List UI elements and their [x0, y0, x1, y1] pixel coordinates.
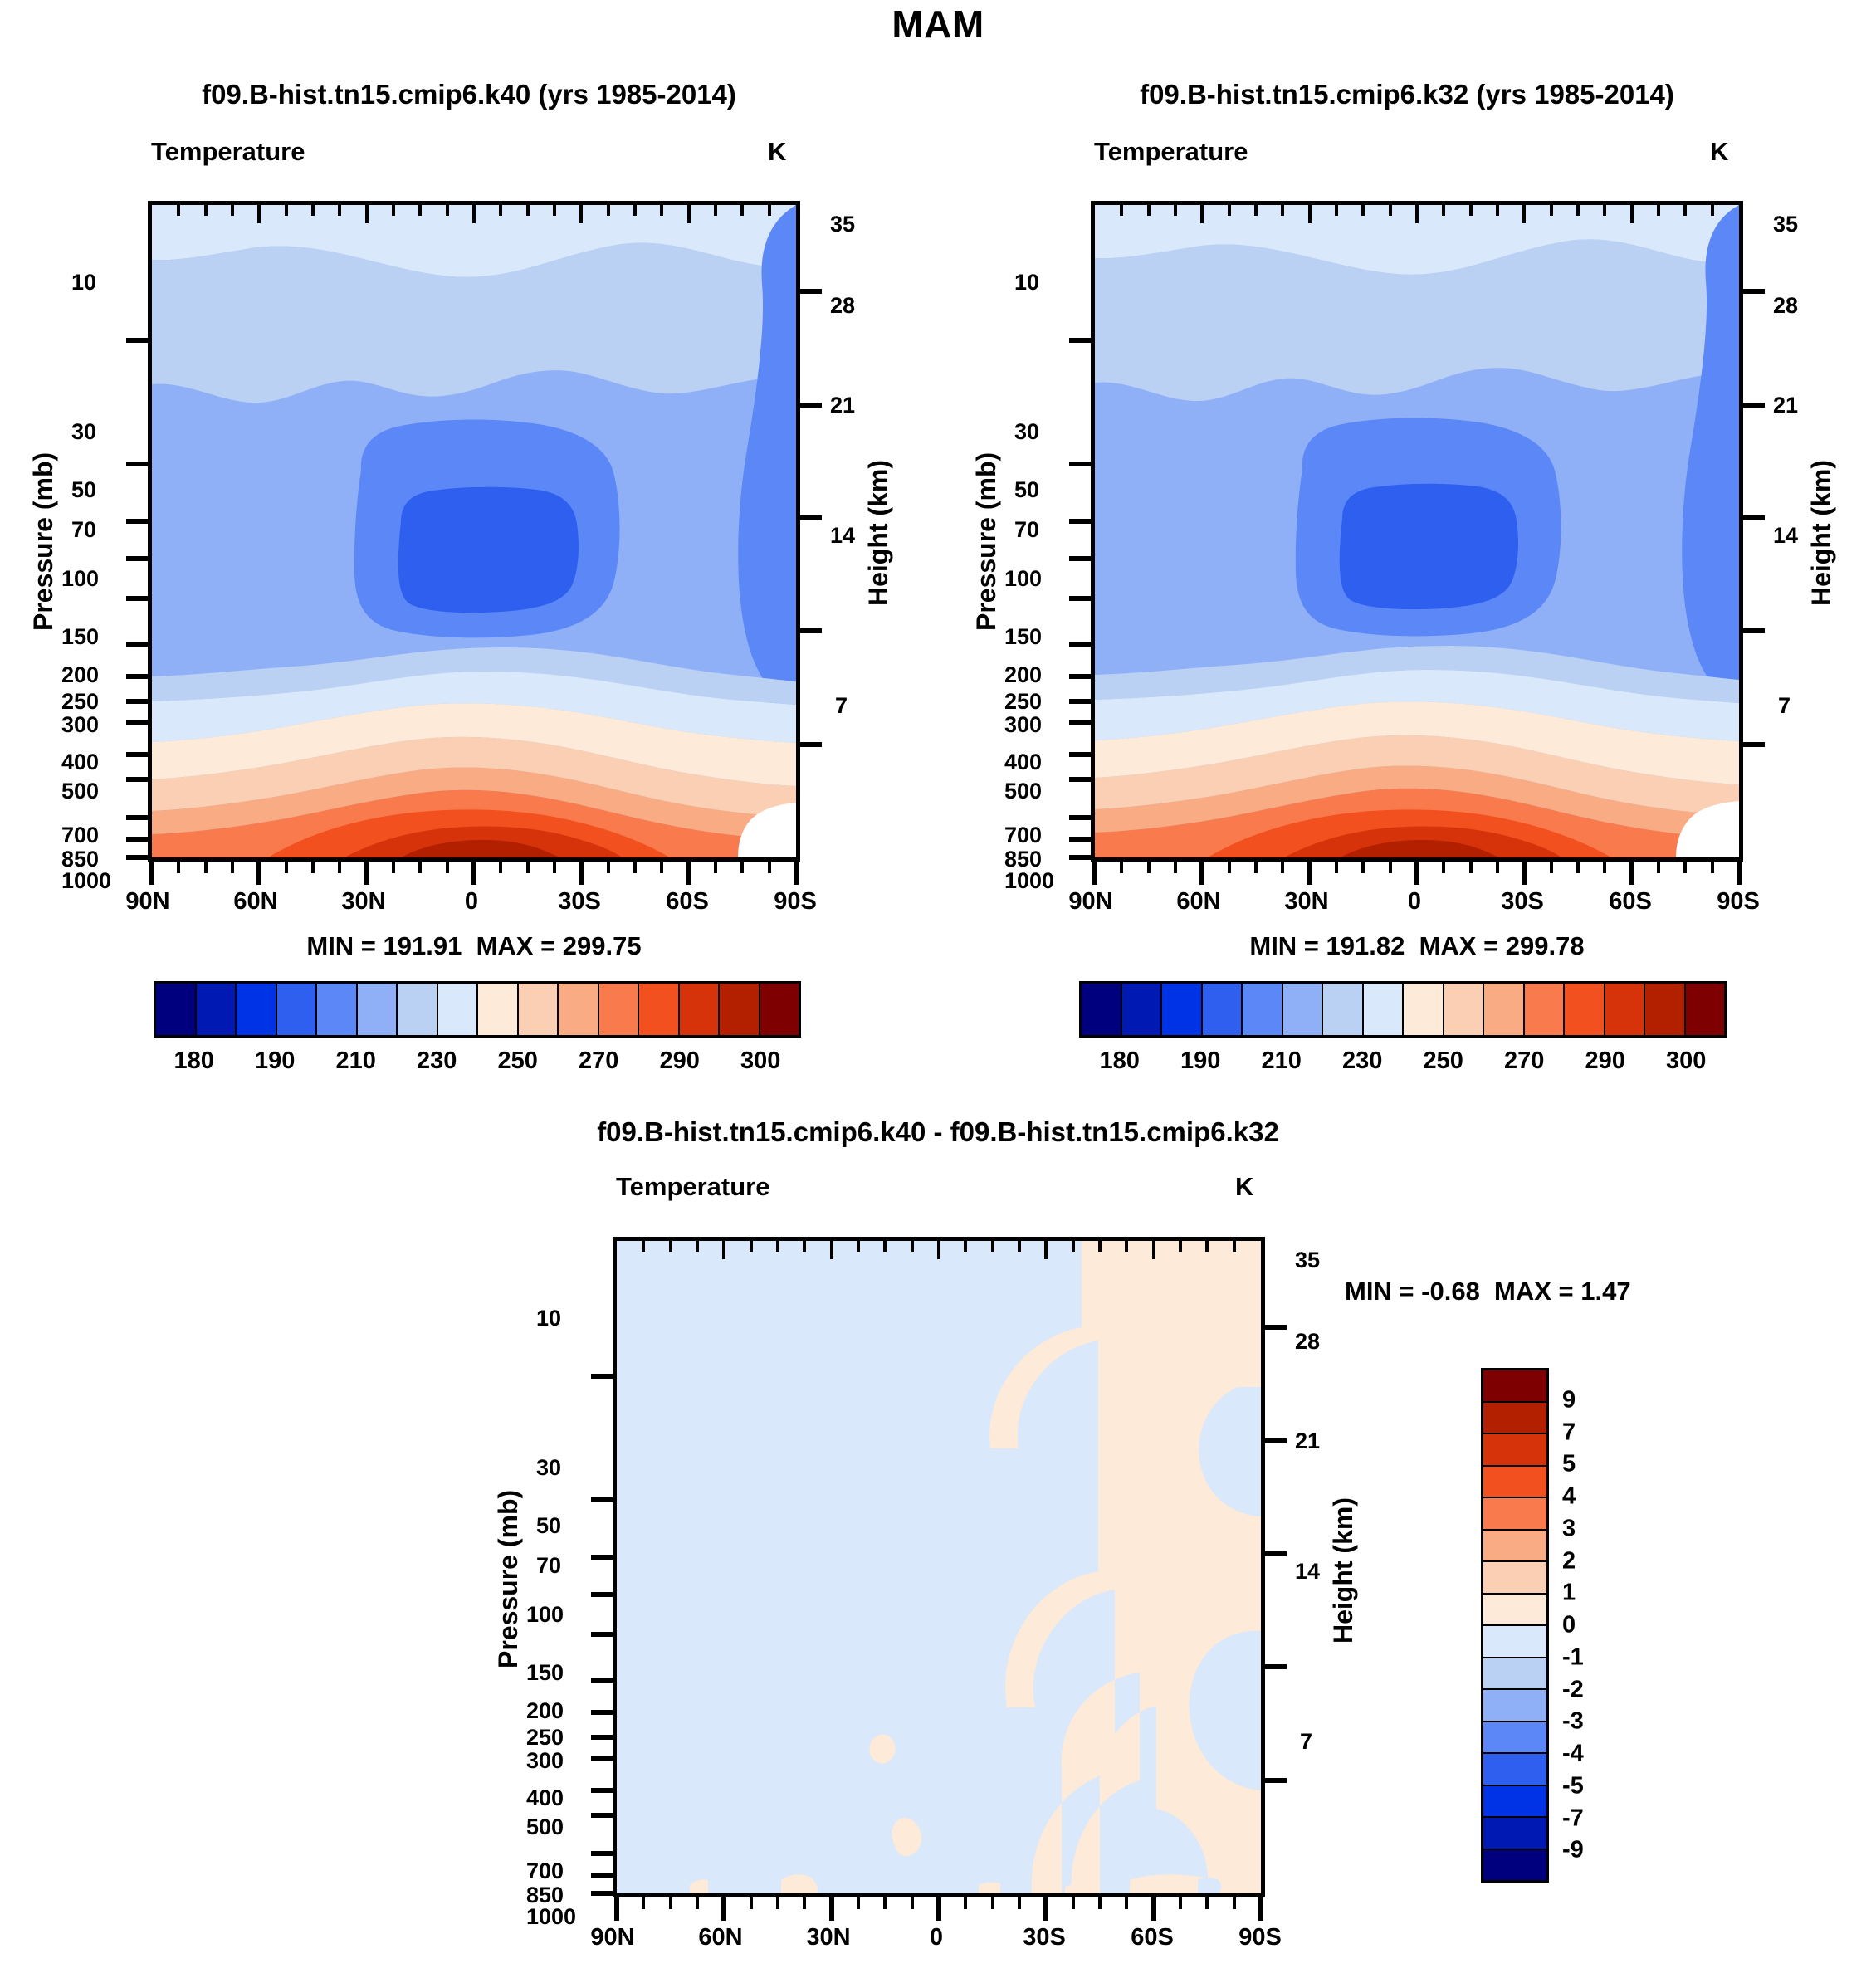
- axis-tickmark: [1742, 742, 1765, 747]
- colorbar-cell: [1525, 984, 1566, 1035]
- axis-tickmark: [1254, 858, 1258, 873]
- colorbar-cell: [1483, 1562, 1546, 1595]
- colorbar-cell: [1565, 984, 1605, 1035]
- axis-tickmark: [126, 596, 149, 601]
- axis-tickmark: [1069, 777, 1092, 782]
- axis-tickmark: [257, 205, 261, 223]
- axis-tickmark: [1576, 858, 1580, 873]
- axis-tickmark: [1737, 858, 1742, 885]
- colorbar-cell: [1483, 1370, 1546, 1403]
- axis-tickmark: [911, 1241, 914, 1252]
- axis-tickmark: [686, 858, 691, 885]
- axis-tickmark: [1152, 1241, 1155, 1259]
- axis-tickmark: [526, 858, 530, 873]
- panel-k40-y2tick-21: 21: [830, 393, 855, 418]
- figure-supertitle: MAM: [0, 2, 1876, 46]
- panel-k40-plot: [148, 201, 800, 862]
- axis-tickmark: [1018, 1894, 1021, 1909]
- axis-tickmark: [964, 1241, 967, 1252]
- axis-tickmark: [126, 699, 149, 704]
- panel-k32-ylabel: Pressure (mb): [971, 452, 1002, 631]
- axis-tickmark: [1069, 752, 1092, 757]
- axis-tickmark: [1522, 205, 1526, 223]
- axis-tickmark: [1205, 1894, 1209, 1909]
- axis-tickmark: [1361, 205, 1365, 216]
- colorbar-cell: [317, 984, 358, 1035]
- axis-tickmark: [1263, 1551, 1287, 1556]
- axis-tickmark: [1263, 1778, 1287, 1783]
- axis-tickmark: [231, 858, 234, 873]
- panel-diff-ytick-300: 300: [526, 1748, 564, 1774]
- colorbar-tick-label: 190: [255, 1048, 295, 1075]
- panel-diff-xtick-90N: 90N: [563, 1924, 662, 1951]
- axis-tickmark: [768, 205, 771, 216]
- colorbar-tick-label: 270: [579, 1048, 618, 1075]
- axis-tickmark: [1742, 515, 1765, 520]
- panel-k32-ytick-150: 150: [1004, 624, 1042, 650]
- axis-tickmark: [936, 1894, 941, 1921]
- axis-tickmark: [1069, 596, 1092, 601]
- panel-diff-xtick-60S: 60S: [1102, 1924, 1202, 1951]
- colorbar-cell: [1483, 1786, 1546, 1819]
- colorbar-tick-label: 180: [174, 1048, 214, 1075]
- axis-tickmark: [660, 858, 663, 873]
- axis-tickmark: [799, 515, 822, 520]
- axis-tickmark: [1550, 858, 1553, 873]
- colorbar-cell: [1483, 1850, 1546, 1881]
- axis-tickmark: [1308, 205, 1312, 223]
- axis-tickmark: [392, 205, 395, 216]
- axis-tickmark: [1711, 858, 1714, 873]
- colorbar-cell: [720, 984, 760, 1035]
- panel-diff-xtick-30S: 30S: [994, 1924, 1094, 1951]
- axis-tickmark: [1550, 205, 1553, 216]
- colorbar-cell: [1444, 984, 1485, 1035]
- axis-tickmark: [471, 858, 476, 885]
- panel-k40-xtick-0: 0: [422, 888, 521, 916]
- panel-diff-y2tick-7: 7: [1300, 1729, 1312, 1755]
- axis-tickmark: [1043, 1894, 1048, 1921]
- colorbar-cell: [1283, 984, 1324, 1035]
- panel-k32-xtick-30S: 30S: [1473, 888, 1572, 916]
- axis-tickmark: [1335, 858, 1338, 873]
- axis-tickmark: [633, 205, 637, 216]
- axis-tickmark: [1069, 462, 1092, 466]
- axis-tickmark: [1281, 858, 1284, 873]
- colorbar-cell: [398, 984, 438, 1035]
- colorbar-tick-label: -4: [1562, 1741, 1584, 1768]
- axis-tickmark: [911, 1894, 914, 1909]
- panel-k32-contour-field: [1095, 205, 1739, 857]
- panel-k40-min: MIN = 191.91: [306, 931, 462, 960]
- panel-k40-minmax: MIN = 191.91 MAX = 299.75: [148, 931, 800, 961]
- axis-tickmark: [499, 205, 502, 216]
- axis-tickmark: [177, 205, 180, 216]
- axis-tickmark: [1069, 519, 1092, 524]
- colorbar-tick-label: 290: [1585, 1048, 1625, 1075]
- axis-tickmark: [591, 1788, 614, 1793]
- colorbar-tick-label: 190: [1180, 1048, 1220, 1075]
- colorbar-cell: [599, 984, 640, 1035]
- panel-diff-plot: [613, 1237, 1265, 1897]
- axis-tickmark: [937, 1241, 940, 1259]
- axis-tickmark: [776, 1894, 779, 1909]
- colorbar-tick-label: -3: [1562, 1708, 1584, 1736]
- colorbar-cell: [1162, 984, 1203, 1035]
- axis-tickmark: [1469, 858, 1473, 873]
- panel-diff-ytick-10: 10: [536, 1306, 561, 1331]
- panel-k40-ytick-700: 700: [61, 823, 99, 848]
- axis-tickmark: [607, 205, 610, 216]
- axis-tickmark: [1742, 628, 1765, 633]
- panel-k32-xtick-30N: 30N: [1257, 888, 1356, 916]
- axis-tickmark: [1147, 205, 1151, 216]
- colorbar-tick-label: 180: [1100, 1048, 1140, 1075]
- panel-diff-ytick-200: 200: [526, 1698, 564, 1724]
- colorbar-tick-label: 5: [1562, 1451, 1576, 1478]
- axis-tickmark: [1657, 205, 1660, 216]
- axis-tickmark: [591, 1555, 614, 1560]
- colorbar-cell: [1483, 1626, 1546, 1658]
- axis-tickmark: [1174, 205, 1177, 216]
- panel-k32-y2tick-35: 35: [1773, 212, 1798, 237]
- panel-diff-colorbar-labels: 97543210-1-2-3-4-5-7-9: [1562, 1368, 1629, 1883]
- axis-tickmark: [591, 1374, 614, 1379]
- axis-tickmark: [256, 858, 261, 885]
- colorbar-cell: [1483, 1754, 1546, 1786]
- axis-tickmark: [591, 1632, 614, 1637]
- colorbar-cell: [237, 984, 277, 1035]
- axis-tickmark: [687, 205, 691, 223]
- panel-k32-y2tick-14: 14: [1773, 523, 1798, 549]
- axis-tickmark: [126, 642, 149, 647]
- axis-tickmark: [803, 1241, 806, 1252]
- axis-tickmark: [126, 752, 149, 757]
- panel-k32-ytick-70: 70: [1014, 517, 1039, 543]
- colorbar-tick-label: -1: [1562, 1643, 1584, 1671]
- panel-k40-xtick-60S: 60S: [638, 888, 737, 916]
- axis-tickmark: [1044, 1241, 1048, 1259]
- panel-k32-max: MAX = 299.78: [1419, 931, 1585, 960]
- panel-title-diff: f09.B-hist.tn15.cmip6.k40 - f09.B-hist.t…: [0, 1116, 1876, 1148]
- colorbar-cell: [277, 984, 318, 1035]
- panel-k40-ytick-500: 500: [61, 779, 99, 804]
- axis-tickmark: [669, 1894, 672, 1909]
- axis-tickmark: [1098, 1241, 1102, 1252]
- panel-k40-ytick-250: 250: [61, 689, 99, 715]
- axis-tickmark: [714, 205, 717, 216]
- axis-tickmark: [1683, 858, 1687, 873]
- axis-tickmark: [714, 858, 717, 873]
- panel-k32-minmax: MIN = 191.82 MAX = 299.78: [1091, 931, 1743, 961]
- axis-tickmark: [285, 205, 288, 216]
- axis-tickmark: [1228, 858, 1231, 873]
- axis-tickmark: [591, 1735, 614, 1740]
- panel-k32-xtick-60N: 60N: [1149, 888, 1248, 916]
- axis-tickmark: [1307, 858, 1312, 885]
- axis-tickmark: [1072, 1241, 1075, 1252]
- axis-tickmark: [857, 1894, 860, 1909]
- panel-k40-ytick-100: 100: [61, 566, 99, 592]
- panel-diff-xtick-30N: 30N: [779, 1924, 878, 1951]
- axis-tickmark: [446, 858, 449, 873]
- axis-tickmark: [126, 338, 149, 343]
- axis-tickmark: [669, 1241, 672, 1252]
- panel-k40-colorbar[interactable]: [154, 981, 801, 1038]
- axis-tickmark: [1442, 205, 1445, 216]
- panel-k40-variable-label: Temperature: [151, 137, 305, 167]
- panel-diff-ytick-30: 30: [536, 1455, 561, 1481]
- axis-tickmark: [1657, 858, 1660, 873]
- panel-k40-ytick-300: 300: [61, 712, 99, 738]
- axis-tickmark: [1069, 815, 1092, 820]
- axis-tickmark: [964, 1894, 967, 1909]
- axis-tickmark: [642, 1894, 645, 1909]
- panel-title-k32: f09.B-hist.tn15.cmip6.k32 (yrs 1985-2014…: [938, 79, 1876, 110]
- axis-tickmark: [418, 858, 422, 873]
- axis-tickmark: [177, 858, 180, 873]
- axis-tickmark: [418, 205, 422, 216]
- axis-tickmark: [1151, 1894, 1156, 1921]
- axis-tickmark: [776, 1241, 779, 1252]
- axis-tickmark: [1630, 205, 1634, 223]
- panel-k40-max: MAX = 299.75: [476, 931, 642, 960]
- axis-tickmark: [204, 858, 208, 873]
- axis-tickmark: [1069, 699, 1092, 704]
- panel-k32-min: MIN = 191.82: [1249, 931, 1405, 960]
- axis-tickmark: [883, 1894, 887, 1909]
- colorbar-tick-label: 250: [1424, 1048, 1463, 1075]
- colorbar-cell: [1243, 984, 1283, 1035]
- axis-tickmark: [591, 1813, 614, 1818]
- colorbar-tick-label: 9: [1562, 1386, 1576, 1414]
- axis-tickmark: [1069, 855, 1092, 860]
- axis-tickmark: [499, 858, 502, 873]
- axis-tickmark: [768, 858, 771, 873]
- axis-tickmark: [579, 858, 584, 885]
- colorbar-cell: [1122, 984, 1163, 1035]
- panel-k40-ytick-30: 30: [71, 419, 96, 445]
- axis-tickmark: [857, 1241, 860, 1252]
- axis-tickmark: [591, 1592, 614, 1597]
- colorbar-cell: [1483, 1498, 1546, 1531]
- panel-diff-units-label: K: [1235, 1172, 1253, 1202]
- panel-k40-ytick-70: 70: [71, 517, 96, 543]
- axis-tickmark: [633, 858, 637, 873]
- panel-k32-ytick-50: 50: [1014, 477, 1039, 503]
- panel-k32-ytick-500: 500: [1004, 779, 1042, 804]
- colorbar-cell: [1404, 984, 1444, 1035]
- panel-k32-ytick-10: 10: [1014, 270, 1039, 295]
- axis-tickmark: [750, 1241, 753, 1252]
- axis-tickmark: [1147, 858, 1151, 873]
- axis-tickmark: [1263, 1325, 1287, 1330]
- panel-k32-ytick-30: 30: [1014, 419, 1039, 445]
- axis-tickmark: [126, 674, 149, 679]
- axis-tickmark: [126, 837, 149, 842]
- axis-tickmark: [338, 205, 341, 216]
- axis-tickmark: [446, 205, 449, 216]
- axis-tickmark: [696, 1241, 699, 1252]
- axis-tickmark: [1414, 858, 1419, 885]
- panel-k40-ytick-10: 10: [71, 270, 96, 295]
- axis-tickmark: [696, 1894, 699, 1909]
- axis-tickmark: [591, 1678, 614, 1683]
- colorbar-cell: [1645, 984, 1686, 1035]
- colorbar-cell: [1483, 1818, 1546, 1850]
- axis-tickmark: [1415, 205, 1419, 223]
- panel-diff-xtick-0: 0: [887, 1924, 986, 1951]
- colorbar-tick-label: 230: [1342, 1048, 1382, 1075]
- panel-k32-colorbar[interactable]: [1079, 981, 1727, 1038]
- axis-tickmark: [126, 777, 149, 782]
- axis-tickmark: [799, 289, 822, 294]
- panel-diff-y2tick-35: 35: [1295, 1248, 1320, 1273]
- panel-k40-ytick-400: 400: [61, 750, 99, 775]
- panel-diff-ytick-70: 70: [536, 1553, 561, 1579]
- axis-tickmark: [1069, 556, 1092, 561]
- panel-diff-ylabel: Pressure (mb): [493, 1490, 524, 1668]
- panel-diff-colorbar[interactable]: [1481, 1368, 1549, 1883]
- colorbar-cell: [760, 984, 799, 1035]
- colorbar-cell: [1364, 984, 1405, 1035]
- axis-tickmark: [1361, 858, 1365, 873]
- axis-tickmark: [1442, 858, 1445, 873]
- panel-diff-ytick-700: 700: [526, 1858, 564, 1884]
- axis-tickmark: [591, 1497, 614, 1502]
- colorbar-cell: [680, 984, 721, 1035]
- panel-k32-variable-label: Temperature: [1094, 137, 1248, 167]
- colorbar-cell: [639, 984, 680, 1035]
- axis-tickmark: [1199, 858, 1204, 885]
- axis-tickmark: [1098, 1894, 1102, 1909]
- panel-k40-y2label: Height (km): [863, 460, 894, 606]
- axis-tickmark: [740, 205, 744, 216]
- panel-k40-contour-field: [152, 205, 796, 857]
- panel-diff-variable-label: Temperature: [616, 1172, 770, 1202]
- colorbar-cell: [156, 984, 197, 1035]
- panel-title-k40: f09.B-hist.tn15.cmip6.k40 (yrs 1985-2014…: [0, 79, 938, 110]
- colorbar-tick-label: 3: [1562, 1515, 1576, 1542]
- axis-tickmark: [829, 1894, 834, 1921]
- axis-tickmark: [1711, 205, 1714, 216]
- panel-k32-y2tick-21: 21: [1773, 393, 1798, 418]
- panel-k40-units-label: K: [768, 137, 786, 167]
- colorbar-tick-label: 270: [1504, 1048, 1544, 1075]
- axis-tickmark: [794, 858, 799, 885]
- axis-tickmark: [1120, 205, 1123, 216]
- panel-k32-plot: [1091, 201, 1743, 862]
- colorbar-tick-label: 7: [1562, 1419, 1576, 1446]
- panel-k32-y2tick-28: 28: [1773, 293, 1798, 319]
- axis-tickmark: [1233, 1894, 1236, 1909]
- axis-tickmark: [591, 1891, 614, 1896]
- axis-tickmark: [392, 858, 395, 873]
- axis-tickmark: [803, 1894, 806, 1909]
- axis-tickmark: [1576, 205, 1580, 216]
- axis-tickmark: [614, 1894, 619, 1921]
- panel-k32-units-label: K: [1710, 137, 1728, 167]
- panel-k32-y2label: Height (km): [1806, 460, 1837, 606]
- panel-k40-xtick-30S: 30S: [530, 888, 629, 916]
- panel-k32-ytick-300: 300: [1004, 712, 1042, 738]
- axis-tickmark: [338, 858, 341, 873]
- colorbar-tick-label: 230: [417, 1048, 457, 1075]
- axis-tickmark: [591, 1851, 614, 1856]
- axis-tickmark: [1389, 858, 1392, 873]
- panel-diff-ytick-100: 100: [526, 1602, 564, 1628]
- axis-tickmark: [1263, 1664, 1287, 1669]
- axis-tickmark: [1281, 205, 1284, 216]
- axis-tickmark: [1174, 858, 1177, 873]
- colorbar-tick-label: 300: [740, 1048, 780, 1075]
- axis-tickmark: [1092, 858, 1097, 885]
- colorbar-cell: [1483, 1595, 1546, 1627]
- axis-tickmark: [1228, 205, 1231, 216]
- axis-tickmark: [1683, 205, 1687, 216]
- panel-k32-xtick-90N: 90N: [1041, 888, 1141, 916]
- panel-k40-y2tick-14: 14: [830, 523, 855, 549]
- axis-tickmark: [1200, 205, 1204, 223]
- colorbar-cell: [478, 984, 519, 1035]
- axis-tickmark: [553, 858, 556, 873]
- axis-tickmark: [1603, 205, 1606, 216]
- panel-diff-min: MIN = -0.68: [1345, 1277, 1480, 1306]
- axis-tickmark: [1069, 642, 1092, 647]
- panel-k32-xtick-90S: 90S: [1688, 888, 1788, 916]
- axis-tickmark: [126, 855, 149, 860]
- axis-tickmark: [660, 205, 663, 216]
- colorbar-cell: [519, 984, 559, 1035]
- axis-tickmark: [204, 205, 208, 216]
- axis-tickmark: [1205, 1241, 1209, 1252]
- panel-k40-xtick-90S: 90S: [745, 888, 845, 916]
- axis-tickmark: [1496, 858, 1499, 873]
- colorbar-cell: [358, 984, 398, 1035]
- colorbar-tick-label: 250: [498, 1048, 538, 1075]
- panel-k40-ylabel: Pressure (mb): [28, 452, 59, 631]
- axis-tickmark: [799, 628, 822, 633]
- panel-k32-ytick-400: 400: [1004, 750, 1042, 775]
- panel-diff-xtick-90S: 90S: [1210, 1924, 1310, 1951]
- panel-k40-ytick-50: 50: [71, 477, 96, 503]
- axis-tickmark: [365, 205, 369, 223]
- axis-tickmark: [126, 720, 149, 725]
- axis-tickmark: [740, 858, 744, 873]
- axis-tickmark: [1069, 674, 1092, 679]
- panel-k32-ytick-100: 100: [1004, 566, 1042, 592]
- panel-k40-y2tick-35: 35: [830, 212, 855, 237]
- axis-tickmark: [799, 403, 822, 408]
- axis-tickmark: [472, 205, 476, 223]
- colorbar-cell: [1605, 984, 1646, 1035]
- axis-tickmark: [1254, 205, 1258, 216]
- colorbar-cell: [1483, 1467, 1546, 1499]
- axis-tickmark: [1120, 858, 1123, 873]
- axis-tickmark: [591, 1873, 614, 1878]
- axis-tickmark: [1072, 1894, 1075, 1909]
- colorbar-tick-label: 290: [660, 1048, 700, 1075]
- colorbar-cell: [559, 984, 599, 1035]
- panel-diff-ytick-400: 400: [526, 1785, 564, 1811]
- axis-tickmark: [126, 815, 149, 820]
- axis-tickmark: [1233, 1241, 1236, 1252]
- colorbar-cell: [1483, 1690, 1546, 1722]
- panel-k40-y2tick-28: 28: [830, 293, 855, 319]
- axis-tickmark: [1522, 858, 1527, 885]
- panel-k32-ytick-200: 200: [1004, 662, 1042, 688]
- colorbar-tick-label: 4: [1562, 1483, 1576, 1511]
